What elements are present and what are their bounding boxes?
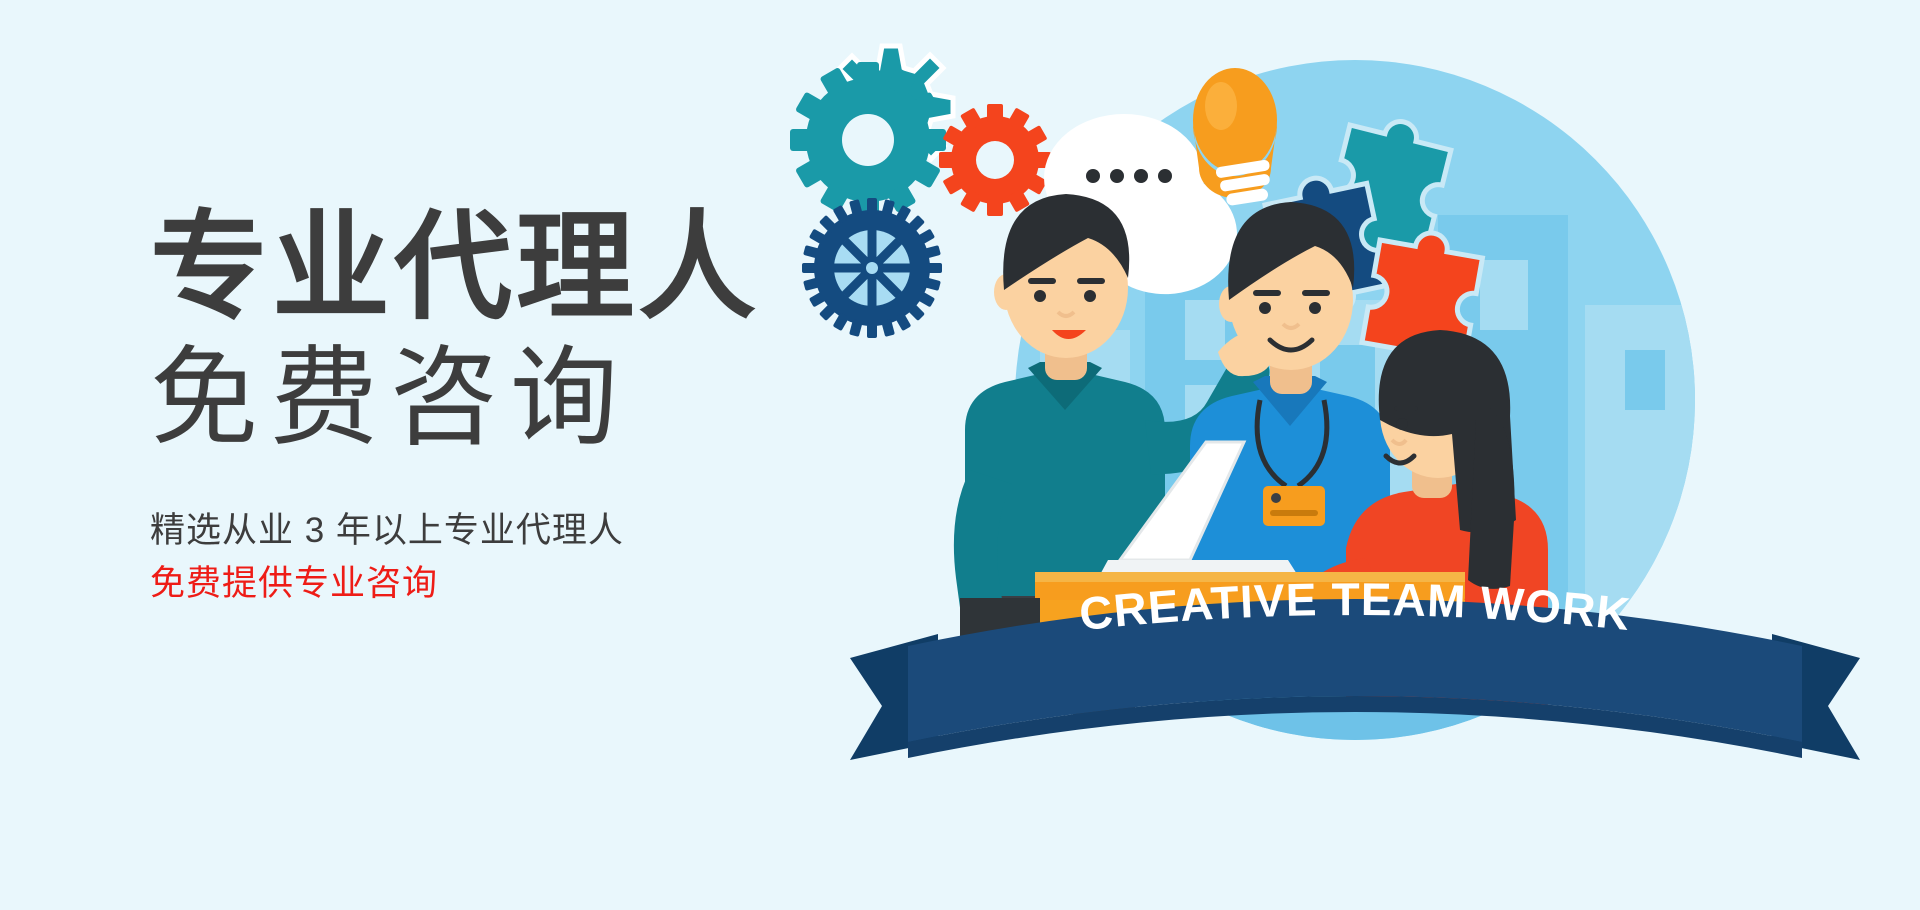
gear-navy-spoked-icon <box>802 198 942 338</box>
page-title-line-2: 免费咨询 <box>150 338 870 459</box>
creative-team-work-illustration: CREATIVE TEAM WORK <box>790 0 1920 910</box>
marketing-copy: 专业代理人 免费咨询 精选从业 3 年以上专业代理人 免费提供专业咨询 <box>150 205 870 610</box>
subtitle-block: 精选从业 3 年以上专业代理人 免费提供专业咨询 <box>150 505 870 610</box>
banner-page: 专业代理人 免费咨询 精选从业 3 年以上专业代理人 免费提供专业咨询 <box>0 0 1920 910</box>
page-title-line-1: 专业代理人 <box>150 205 870 332</box>
subtitle-line-1: 精选从业 3 年以上专业代理人 <box>150 505 870 558</box>
subtitle-line-2: 免费提供专业咨询 <box>150 558 870 611</box>
gear-teal-icon <box>790 46 953 218</box>
gear-red-icon <box>939 104 1051 216</box>
